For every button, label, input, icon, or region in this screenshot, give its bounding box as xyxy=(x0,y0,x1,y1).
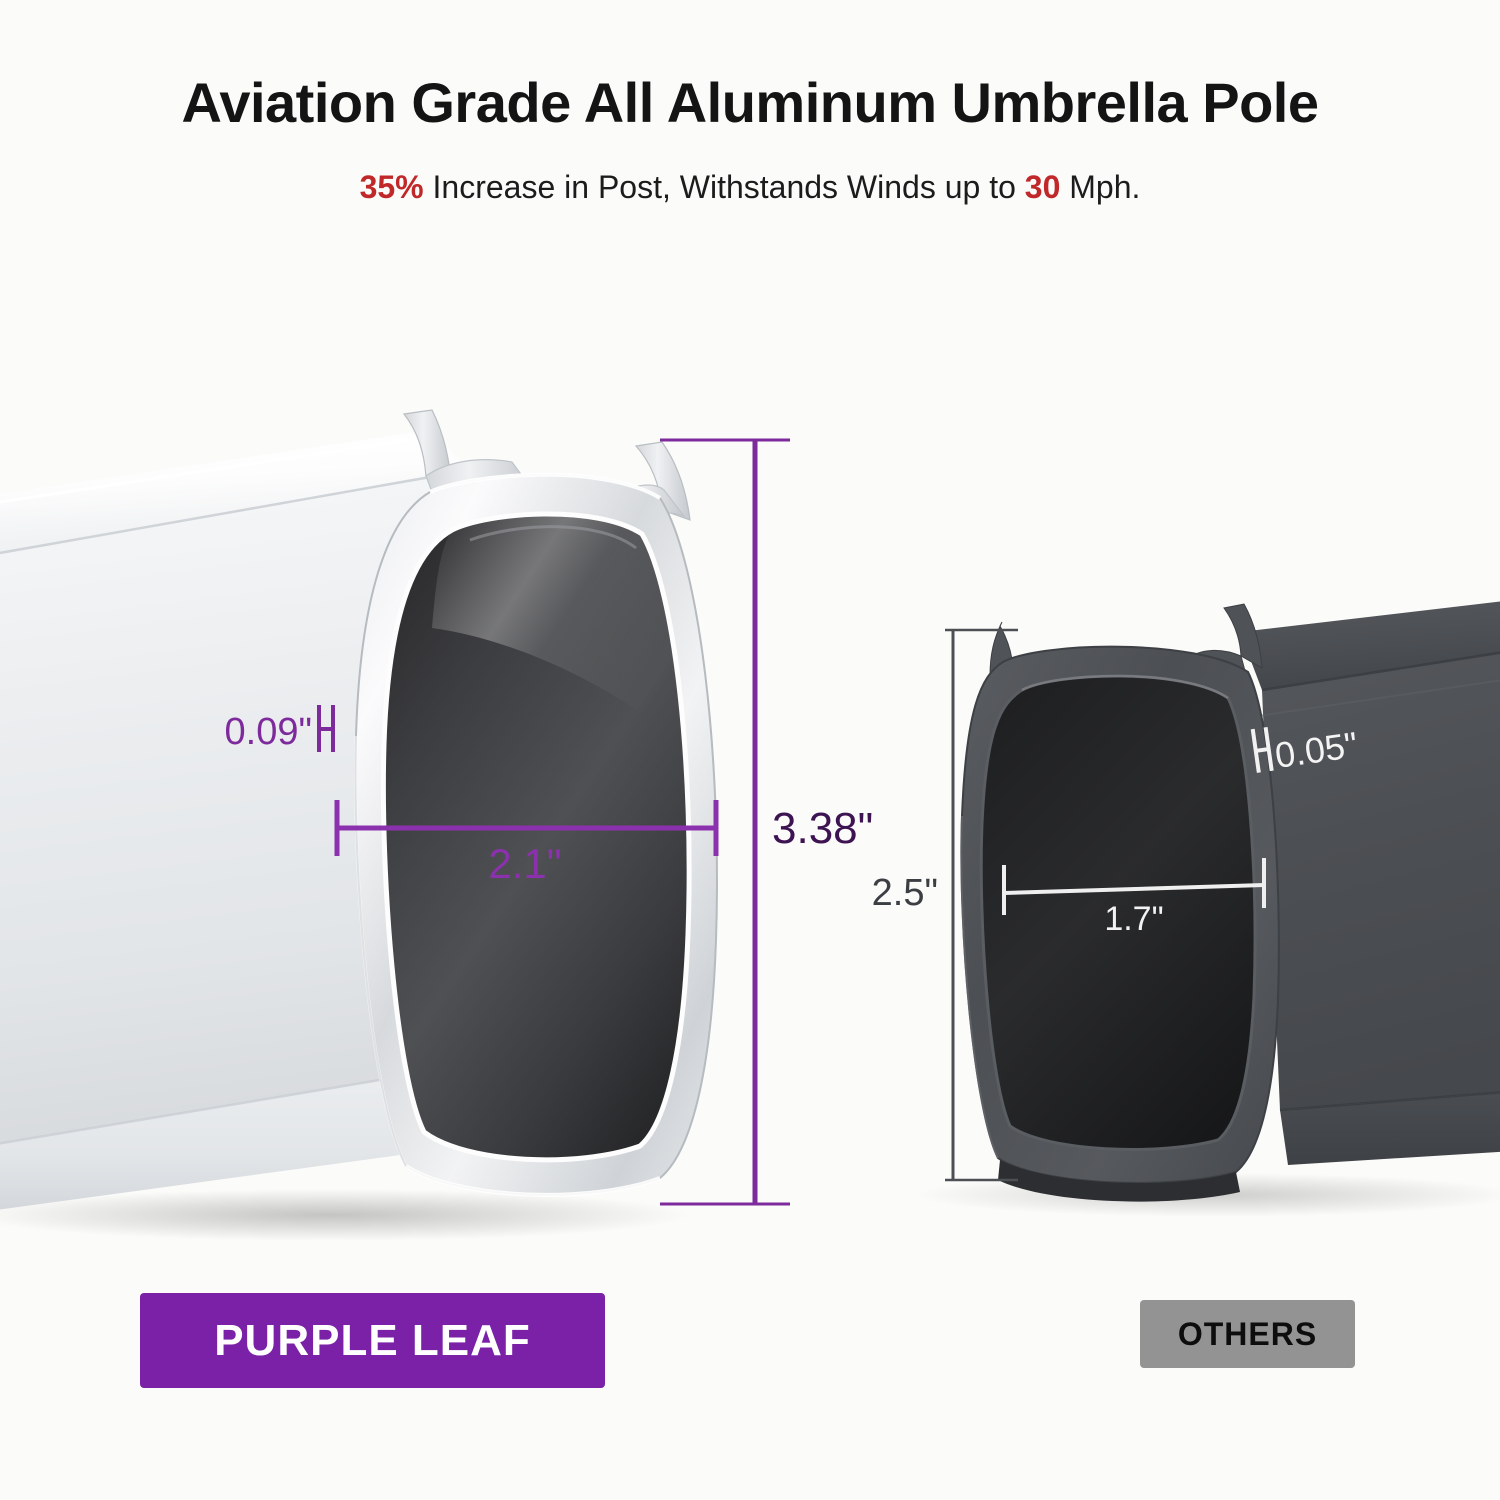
dimension-label-width-right: 1.7" xyxy=(1104,900,1163,938)
page-title: Aviation Grade All Aluminum Umbrella Pol… xyxy=(0,72,1500,134)
brand-badge-purple-leaf: PURPLE LEAF xyxy=(140,1293,605,1388)
product-comparison-stage: 0.09" 2.1" 3.38" xyxy=(0,0,1500,1500)
subtitle-text-mid: Increase in Post, Withstands Winds up to xyxy=(424,169,1025,205)
stat-wind-speed: 30 xyxy=(1025,169,1061,205)
dimension-label-height-right: 2.5" xyxy=(872,872,938,914)
page-subtitle: 35% Increase in Post, Withstands Winds u… xyxy=(0,168,1500,206)
dimension-label-width-left: 2.1" xyxy=(488,840,561,887)
subtitle-text-end: Mph. xyxy=(1060,169,1140,205)
dimension-label-wall-thickness-left: 0.09" xyxy=(225,711,312,753)
header: Aviation Grade All Aluminum Umbrella Pol… xyxy=(0,0,1500,206)
dimension-label-height-left: 3.38" xyxy=(772,804,873,853)
stat-increase: 35% xyxy=(360,169,424,205)
brand-badge-others: OTHERS xyxy=(1140,1300,1355,1368)
